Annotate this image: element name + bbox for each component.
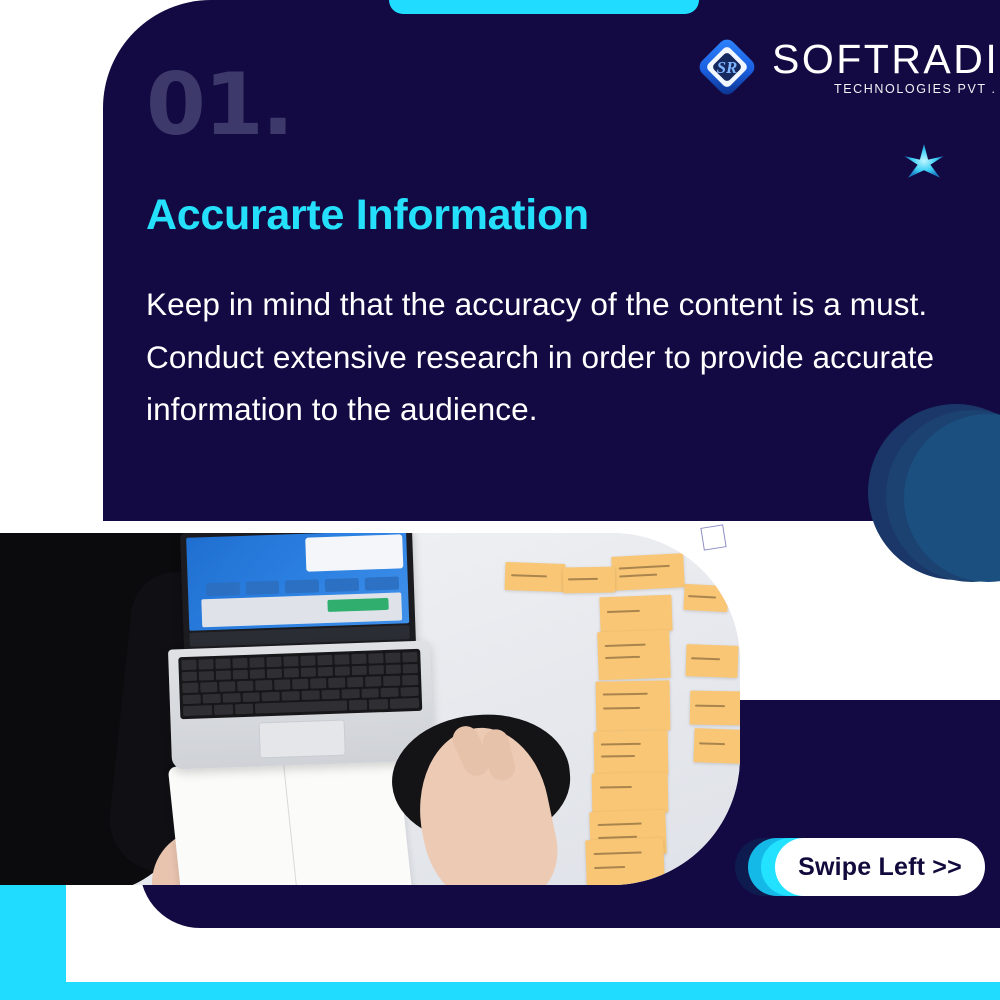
sticky-note — [597, 630, 671, 680]
carousel-slide: 01. Accurarte Information Keep in mind t… — [0, 0, 1000, 1000]
laptop-screen — [180, 533, 416, 653]
logo-diamond-icon: SR — [696, 36, 758, 98]
bottom-cyan-accent — [0, 982, 1000, 1000]
slide-number: 01. — [146, 62, 292, 148]
ui-primary-action — [327, 598, 389, 612]
ui-button — [365, 576, 399, 590]
logo-monogram-text: SR — [717, 58, 738, 77]
sticky-note — [596, 680, 671, 731]
page-title: Accurarte Information — [146, 192, 589, 239]
ui-button — [205, 582, 239, 596]
sticky-note — [599, 595, 672, 633]
ui-button — [245, 581, 279, 595]
desk-photo — [0, 533, 740, 885]
laptop-trackpad — [259, 719, 346, 758]
logo-wordmark: SOFTRADIX TECHNOLOGIES PVT . LTD — [772, 38, 1000, 97]
sticky-note — [690, 691, 740, 726]
laptop-screen-ui — [186, 533, 409, 631]
swipe-left-button[interactable]: Swipe Left >> — [775, 838, 985, 896]
sticky-note — [585, 838, 665, 885]
logo-subtitle: TECHNOLOGIES PVT . LTD — [772, 82, 1000, 96]
sticky-note — [693, 728, 740, 764]
sticky-note — [505, 562, 566, 592]
diamond-outline-icon — [700, 524, 726, 550]
laptop-base — [168, 640, 434, 769]
ui-button — [325, 578, 359, 592]
photo-panel — [0, 533, 740, 885]
top-accent-bar — [389, 0, 699, 14]
sticky-note — [685, 644, 738, 678]
sticky-note — [683, 584, 728, 612]
sticky-note — [611, 553, 685, 591]
logo-name: SOFTRADIX — [772, 38, 1000, 81]
sticky-note — [563, 567, 615, 594]
brand-logo[interactable]: SR SOFTRADIX TECHNOLOGIES PVT . LTD — [696, 36, 1000, 98]
swipe-cta-group[interactable]: Swipe Left >> — [735, 838, 985, 896]
laptop-keyboard — [178, 649, 422, 719]
sticky-note — [594, 730, 669, 775]
ui-dialog-card — [305, 534, 403, 571]
star-icon — [903, 143, 945, 185]
sticky-note — [592, 772, 669, 813]
body-text: Keep in mind that the accuracy of the co… — [146, 278, 976, 436]
ui-button — [285, 579, 319, 593]
